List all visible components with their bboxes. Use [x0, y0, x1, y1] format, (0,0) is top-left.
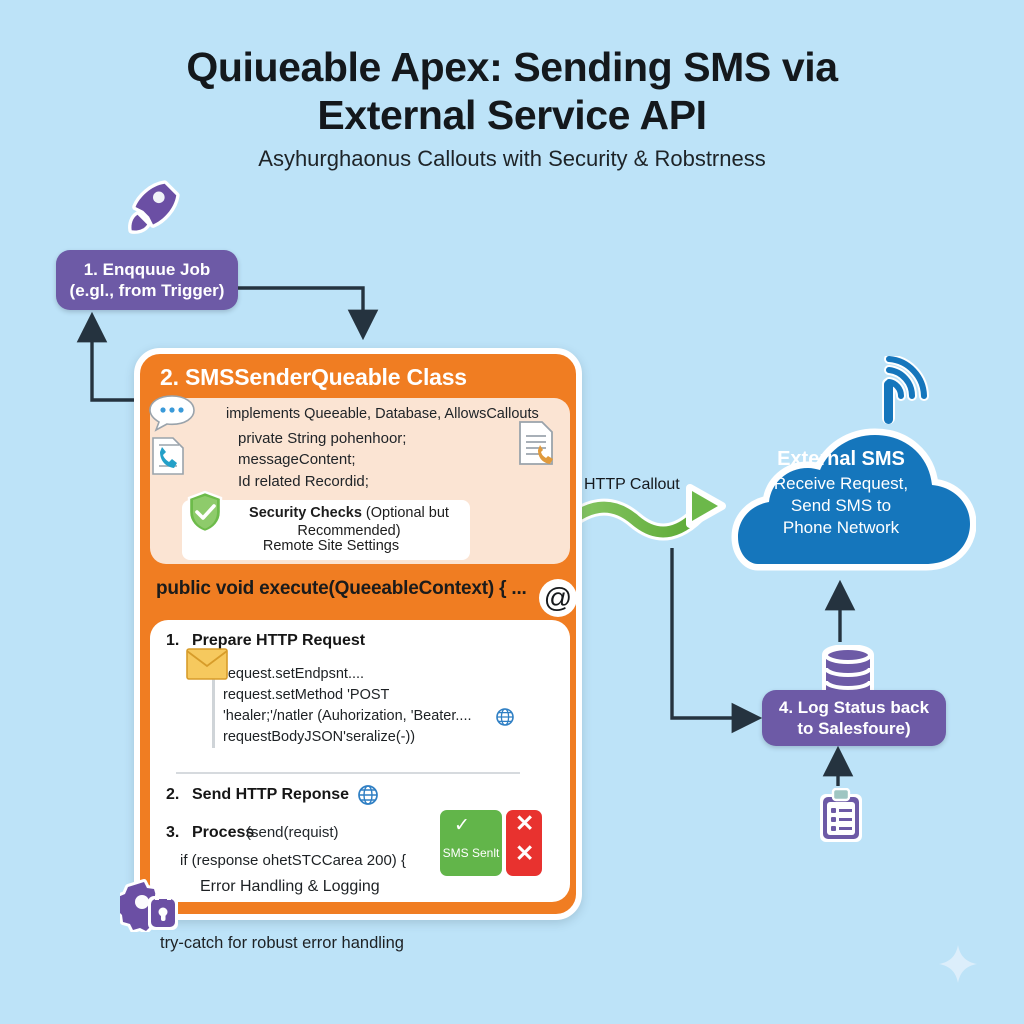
security-checks-title-rest: (Optional but	[362, 505, 449, 521]
security-checks-title: Security Checks (Optional but Recommende…	[234, 504, 464, 540]
speech-bubble-icon	[148, 394, 196, 432]
class-declaration-panel: implements Queeable, Database, AllowsCal…	[150, 398, 570, 564]
cloud-title: External SMS	[706, 448, 976, 471]
security-checks-title-line2: Recommended)	[297, 523, 400, 539]
antenna-icon	[868, 356, 944, 426]
svg-text:@: @	[544, 582, 572, 613]
divider	[176, 772, 520, 774]
globe-icon	[358, 785, 378, 805]
node-log-status[interactable]: 4. Log Status back to Salesfoure)	[762, 690, 946, 746]
security-checks-strip: Security Checks (Optional but Recommende…	[182, 500, 470, 560]
step-2-heading: Send HTTP Reponse	[192, 786, 349, 804]
security-checks-title-bold: Security Checks	[249, 505, 362, 521]
field-line: Id related Recordid;	[238, 471, 558, 492]
close-icon: ✕	[515, 810, 534, 837]
step-3-heading-sub: (send(requist)	[246, 824, 339, 841]
code-line: 'healer;'/natler (Auhorization, 'Beater.…	[223, 706, 531, 727]
http-callout-label: HTTP Callout	[584, 476, 680, 494]
step-1-code-block: request.setEndpsnt.... request.setMethod…	[212, 664, 531, 748]
step-3-heading: Process	[192, 824, 254, 842]
security-checks-subtitle: Remote Site Settings	[206, 538, 456, 554]
envelope-icon	[186, 648, 228, 680]
node-enqueue-line2: (e.gl., from Trigger)	[70, 280, 225, 301]
code-line: request.setMethod 'POST	[223, 685, 531, 706]
rocket-icon	[122, 176, 184, 238]
field-line: messageContent;	[238, 449, 558, 470]
phone-document-icon	[150, 436, 186, 476]
check-icon: ✓	[454, 814, 470, 837]
cloud-subtitle-line3: Phone Network	[706, 517, 976, 539]
step-3-error-line: Error Handling & Logging	[200, 878, 380, 896]
at-sign-icon: @	[538, 578, 578, 618]
diagram-caption: try-catch for robust error handling	[160, 934, 404, 953]
step-3-number: 3.	[166, 824, 179, 842]
class-fields: private String pohenhoor; messageContent…	[238, 428, 558, 492]
status-badge-success: ✓ SMS Senlt	[440, 810, 502, 876]
sparkle-icon	[938, 944, 978, 984]
status-badge-success-label: SMS Senlt	[440, 846, 502, 860]
external-sms-cloud-text: External SMS Receive Request, Send SMS t…	[706, 448, 976, 538]
globe-icon	[496, 708, 514, 726]
document-phone-icon	[516, 420, 556, 466]
gear-lock-icon	[120, 876, 182, 932]
node-log-line1: 4. Log Status back	[779, 697, 929, 718]
code-line: request.setEndpsnt....	[223, 664, 531, 685]
node-enqueue-line1: 1. Enqquue Job	[70, 259, 225, 280]
clipboard-icon	[818, 788, 864, 844]
status-badge-error: ✕ ✕	[506, 810, 542, 876]
node-log-line2: to Salesfoure)	[779, 718, 929, 739]
cloud-subtitle-line2: Send SMS to	[706, 495, 976, 517]
cloud-subtitle: Receive Request, Send SMS to Phone Netwo…	[706, 473, 976, 538]
step-3-code-line: if (response ohetSTCCarea 200) {	[180, 852, 406, 869]
field-line: private String pohenhoor;	[238, 428, 558, 449]
diagram-canvas: Quiueable Apex: Sending SMS via External…	[0, 0, 1024, 1024]
node-enqueue-job[interactable]: 1. Enqquue Job (e.gl., from Trigger)	[56, 250, 238, 310]
execute-signature: public void execute(QueeableContext) { .…	[156, 578, 527, 600]
step-1-number: 1.	[166, 632, 179, 650]
step-2-number: 2.	[166, 786, 179, 804]
card-title: 2. SMSSenderQueable Class	[160, 364, 467, 391]
implements-line: implements Queeable, Database, AllowsCal…	[226, 406, 556, 422]
close-icon: ✕	[515, 840, 534, 867]
cloud-subtitle-line1: Receive Request,	[706, 473, 976, 495]
code-line: requestBodyJSON'seralize(-))	[223, 727, 531, 748]
shield-check-icon	[186, 490, 224, 534]
